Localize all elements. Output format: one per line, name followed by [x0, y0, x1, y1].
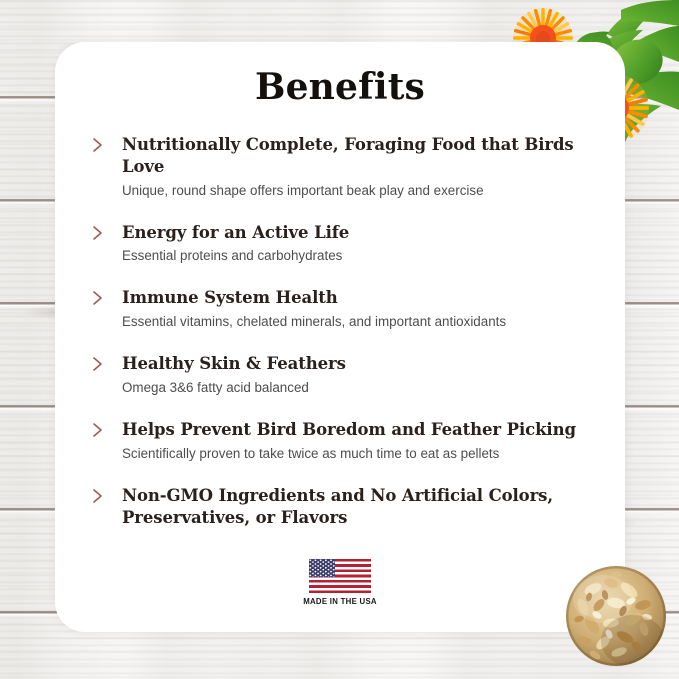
benefit-subtext: Unique, round shape offers important bea…	[122, 182, 589, 200]
benefit-heading: Healthy Skin & Feathers	[122, 353, 589, 375]
benefit-heading: Nutritionally Complete, Foraging Food th…	[122, 134, 589, 178]
made-in-usa-badge: MADE IN THE USA	[55, 559, 625, 606]
benefit-heading: Energy for an Active Life	[122, 222, 589, 244]
flag-stars	[309, 559, 335, 577]
list-item: Helps Prevent Bird Boredom and Feather P…	[89, 419, 589, 463]
list-item: Non-GMO Ingredients and No Artificial Co…	[89, 485, 589, 529]
chevron-right-icon	[91, 136, 105, 154]
benefit-heading: Immune System Health	[122, 287, 589, 309]
list-item: Nutritionally Complete, Foraging Food th…	[89, 134, 589, 200]
chevron-right-icon	[91, 421, 105, 439]
chevron-right-icon	[91, 289, 105, 307]
benefit-heading: Helps Prevent Bird Boredom and Feather P…	[122, 419, 589, 441]
chevron-right-icon	[91, 224, 105, 242]
benefit-subtext: Essential proteins and carbohydrates	[122, 247, 589, 265]
list-item: Healthy Skin & Feathers Omega 3&6 fatty …	[89, 353, 589, 397]
list-item: Energy for an Active Life Essential prot…	[89, 222, 589, 266]
list-item: Immune System Health Essential vitamins,…	[89, 287, 589, 331]
benefit-heading: Non-GMO Ingredients and No Artificial Co…	[122, 485, 589, 529]
benefits-list: Nutritionally Complete, Foraging Food th…	[55, 108, 625, 529]
product-benefits-infographic: Benefits Nutritionally Complete, Foragin…	[0, 0, 679, 679]
made-in-usa-label: MADE IN THE USA	[303, 596, 377, 606]
chevron-right-icon	[91, 487, 105, 505]
page-title: Benefits	[55, 42, 625, 108]
benefit-subtext: Scientifically proven to take twice as m…	[122, 445, 589, 463]
chevron-right-icon	[91, 355, 105, 373]
benefit-subtext: Omega 3&6 fatty acid balanced	[122, 379, 589, 397]
benefits-card: Benefits Nutritionally Complete, Foragin…	[55, 42, 625, 632]
usa-flag-icon	[309, 559, 371, 593]
benefit-subtext: Essential vitamins, chelated minerals, a…	[122, 313, 589, 331]
